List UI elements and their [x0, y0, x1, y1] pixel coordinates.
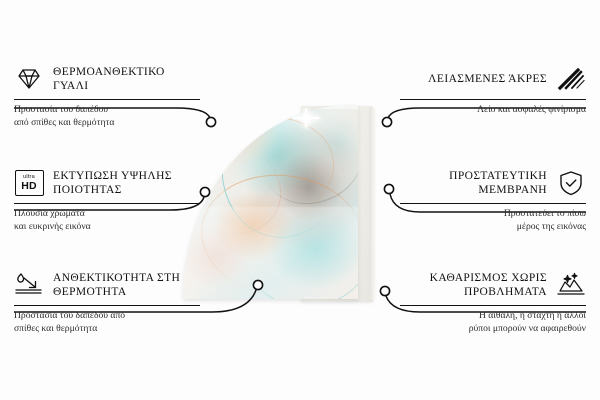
feature-easy-cleaning: ΚΑΘΑΡΙΣΜΟΣ ΧΩΡΙΣ ΠΡΟΒΛΗΜΑΤΑ Η αιθάλη, η …: [400, 268, 586, 336]
printed-glass-plate: [183, 105, 358, 299]
glass-top-edge: [183, 105, 358, 109]
sparkle-clean-icon: [556, 271, 586, 299]
ink-vein: [254, 111, 358, 216]
polished-edge-icon: [556, 65, 586, 93]
feature-subtitle: Πλούσια χρώματακαι ευκρινής εικόνα: [14, 208, 200, 234]
feature-subtitle: Προστασία του δαπέδουαπό σπίθες και θερμ…: [14, 104, 200, 130]
divider: [14, 305, 200, 306]
feature-subtitle: Προστατεύει το πίσωμέρος της εικόνας: [400, 208, 586, 234]
feature-high-quality-print: ultra HD ΕΚΤΥΠΩΣΗ ΥΨΗΛΗΣ ΠΟΙΟΤΗΤΑΣ Πλούσ…: [14, 166, 200, 234]
feature-title: ΑΝΘΕΚΤΙΚΟΤΗΤΑ ΣΤΗ ΘΕΡΜΟΤΗΤΑ: [53, 271, 200, 299]
feature-title: ΠΡΟΣΤΑΤΕΥΤΙΚΗ ΜΕΜΒΡΑΝΗ: [400, 169, 547, 197]
flame-deflect-icon: [14, 271, 44, 299]
feature-heat-resistant-glass: ΘΕΡΜΟΑΝΘΕΚΤΙΚΟ ΓΥΑΛΙ Προστασία του δαπέδ…: [14, 62, 200, 130]
feature-subtitle: Λείο και ασφαλές φινίρισμα: [400, 104, 586, 117]
feature-polished-edges: ΛΕΙΑΣΜΕΝΕΣ ΆΚΡΕΣ Λείο και ασφαλές φινίρι…: [400, 62, 586, 117]
divider: [400, 99, 586, 100]
divider: [400, 203, 586, 204]
divider: [14, 99, 200, 100]
feature-title: ΛΕΙΑΣΜΕΝΕΣ ΆΚΡΕΣ: [428, 72, 547, 86]
infographic-canvas: ΘΕΡΜΟΑΝΘΕΚΤΙΚΟ ΓΥΑΛΙ Προστασία του δαπέδ…: [0, 0, 600, 400]
product-image: [183, 101, 395, 306]
feature-protective-membrane: ΠΡΟΣΤΑΤΕΥΤΙΚΗ ΜΕΜΒΡΑΝΗ Προστατεύει το πί…: [400, 166, 586, 234]
feature-heat-durability: ΑΝΘΕΚΤΙΚΟΤΗΤΑ ΣΤΗ ΘΕΡΜΟΤΗΤΑ Προστασία το…: [14, 268, 200, 336]
ink-vein: [235, 182, 358, 299]
ink-vein: [183, 105, 344, 246]
feature-title: ΕΚΤΥΠΩΣΗ ΥΨΗΛΗΣ ΠΟΙΟΤΗΤΑΣ: [53, 169, 200, 197]
diamond-icon: [14, 65, 44, 93]
feature-title: ΘΕΡΜΟΑΝΘΕΚΤΙΚΟ ΓΥΑΛΙ: [53, 65, 200, 93]
ink-vein: [211, 105, 356, 247]
divider: [400, 305, 586, 306]
shield-check-icon: [556, 169, 586, 197]
feature-subtitle: Προστασία του δαπέδου απόσπίθες και θερμ…: [14, 310, 200, 336]
ultra-hd-large-label: HD: [21, 181, 37, 192]
feature-subtitle: Η αιθάλη, η στάχτη ή άλλοιρύποι μπορούν …: [400, 310, 586, 336]
glass-panel-edge: [369, 108, 378, 300]
ink-vein: [195, 167, 358, 299]
feature-title: ΚΑΘΑΡΙΣΜΟΣ ΧΩΡΙΣ ΠΡΟΒΛΗΜΑΤΑ: [400, 271, 547, 299]
ultra-hd-badge-icon: ultra HD: [14, 169, 44, 197]
divider: [14, 203, 200, 204]
glass-sheen: [183, 105, 358, 299]
